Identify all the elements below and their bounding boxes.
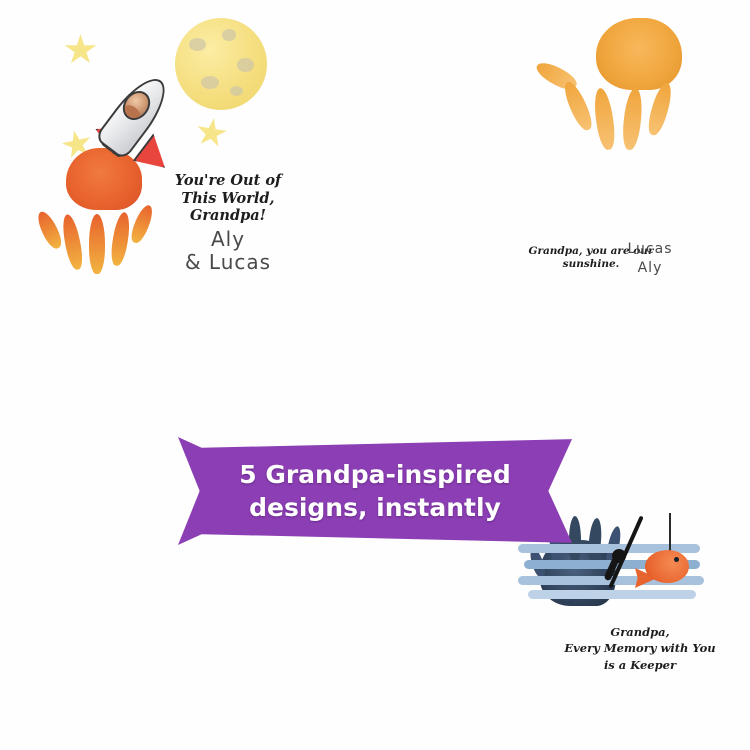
design-quote-rocket: You're Out of This World, Grandpa! — [168, 172, 288, 225]
star-icon — [64, 34, 97, 66]
design-card-fishing: Grandpa, Every Memory with You is a Keep… — [250, 250, 500, 420]
fish-eye — [674, 557, 679, 562]
poster-canvas: You're Out of This World, Grandpa! Aly &… — [0, 0, 750, 750]
fishing-line — [669, 513, 671, 555]
fish-illustration — [645, 550, 689, 583]
star-icon — [194, 116, 229, 150]
handprint-sun — [548, 18, 708, 158]
fishing-reel — [612, 549, 626, 563]
moon-illustration — [175, 18, 267, 110]
design-signature-sunshine: Lucas Aly — [615, 240, 685, 278]
design-card-rocket: You're Out of This World, Grandpa! Aly &… — [0, 0, 300, 290]
promo-banner-ribbon — [178, 437, 572, 545]
handprint-flames — [40, 148, 170, 273]
design-card-sunshine: Grandpa, you are our sunshine. Lucas Aly — [460, 0, 750, 290]
